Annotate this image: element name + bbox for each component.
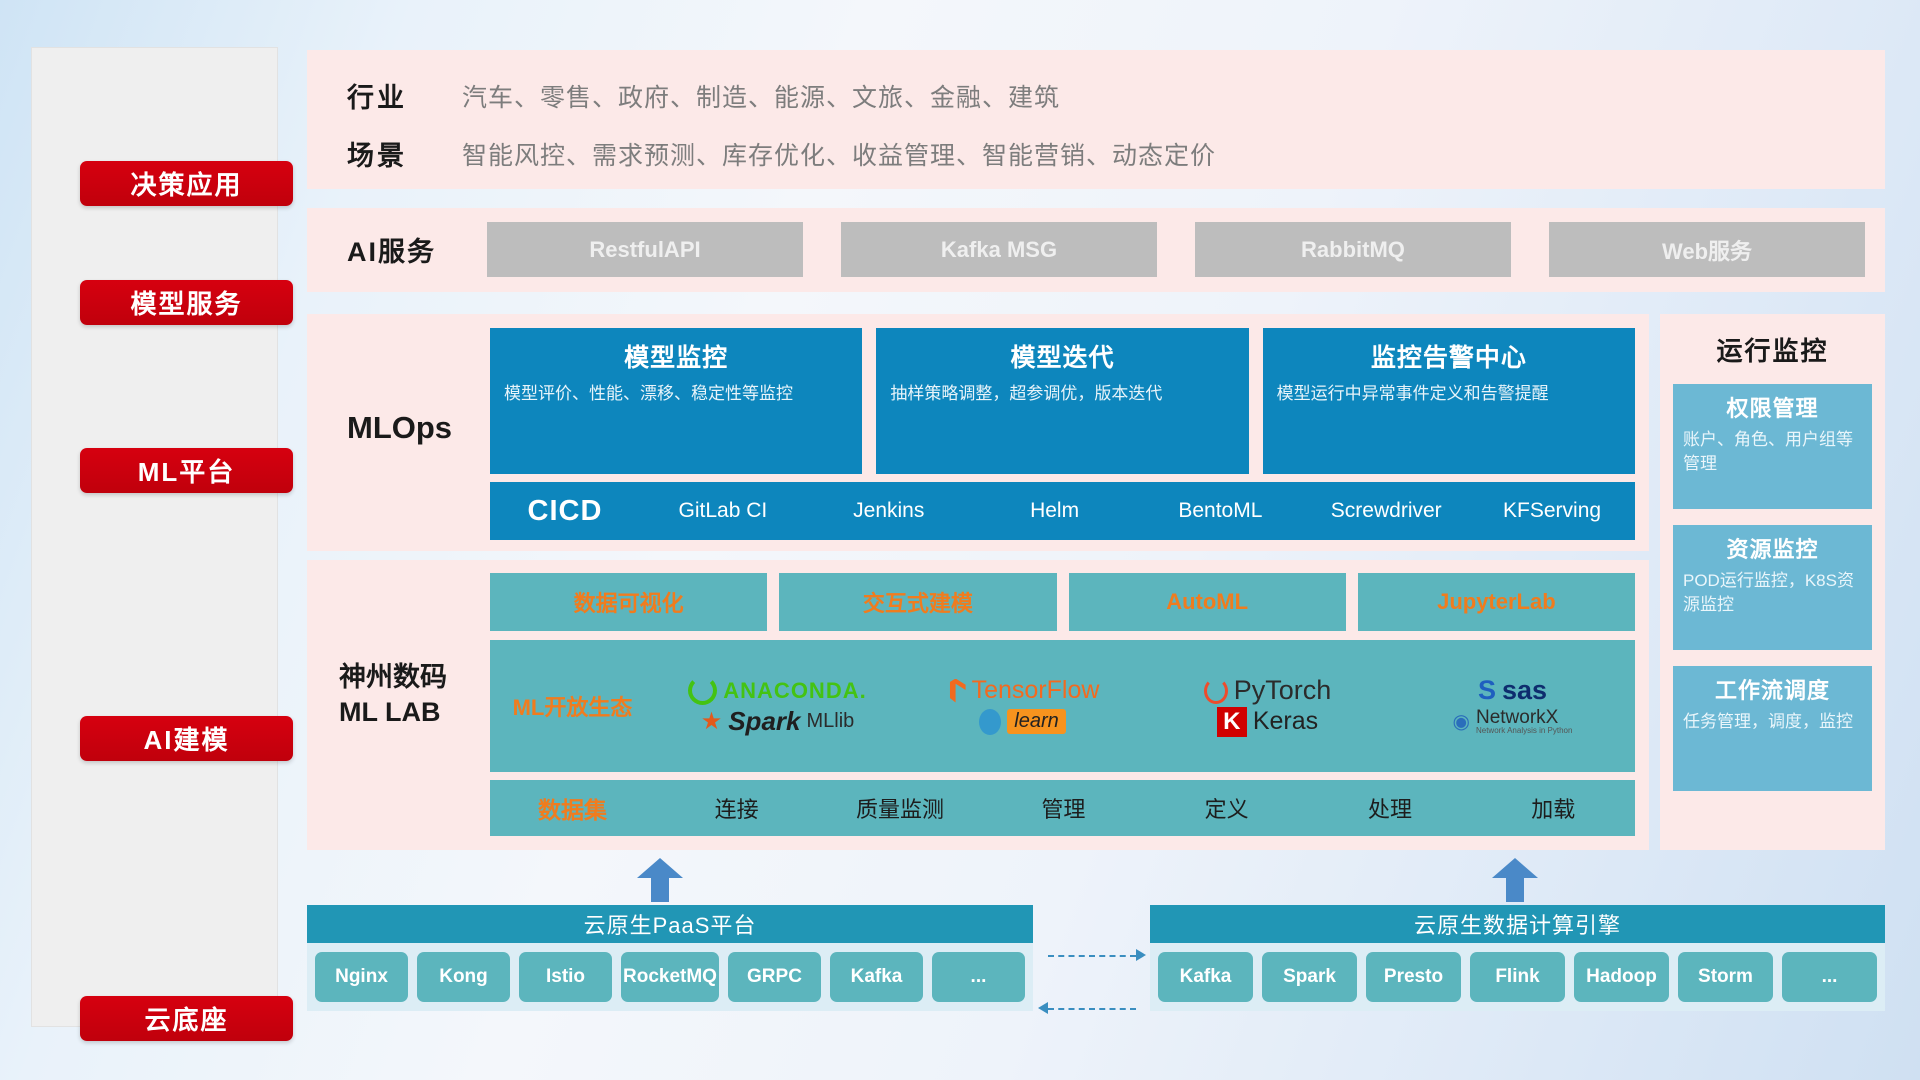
dashed-arrowhead-left-icon: [1038, 1002, 1048, 1014]
mlops-card-model-monitoring[interactable]: 模型监控 模型评价、性能、漂移、稳定性等监控: [490, 328, 862, 474]
mllab-label: 神州数码 ML LAB: [339, 660, 499, 730]
mllab-tool-automl[interactable]: AutoML: [1069, 573, 1346, 631]
dashed-arrowhead-right-icon: [1136, 949, 1146, 961]
layer-rail: 决策应用 模型服务 ML平台 AI建模 云底座: [31, 47, 278, 1027]
chip-rocketmq[interactable]: RocketMQ: [621, 952, 719, 1002]
tensorflow-mark-icon: [946, 679, 966, 703]
ai-service-item-kafka-msg[interactable]: Kafka MSG: [841, 222, 1157, 277]
mlops-card-desc: 模型运行中异常事件定义和告警提醒: [1277, 382, 1621, 407]
monitor-card-permission[interactable]: 权限管理 账户、角色、用户组等管理: [1673, 384, 1872, 509]
spark-label: Spark: [728, 706, 800, 737]
scene-label: 场景: [347, 134, 462, 173]
cicd-item-list: GitLab CI Jenkins Helm BentoML Screwdriv…: [640, 500, 1635, 522]
mlops-card-desc: 抽样策略调整，超参调优，版本迭代: [890, 382, 1234, 407]
dataset-item-manage[interactable]: 管理: [982, 792, 1145, 824]
mllab-tool-interactive-modeling[interactable]: 交互式建模: [779, 573, 1056, 631]
chip-kong[interactable]: Kong: [417, 952, 510, 1002]
anaconda-logo: ANACONDA.: [688, 676, 866, 705]
keras-mark-icon: K: [1217, 707, 1247, 737]
anaconda-label: ANACONDA.: [723, 678, 866, 704]
spark-star-icon: ★: [701, 707, 723, 736]
scene-row: 场景 智能风控、需求预测、库存优化、收益管理、智能营销、动态定价: [347, 134, 1216, 173]
monitor-card-title: 权限管理: [1683, 391, 1862, 423]
mlops-band: MLOps 模型监控 模型评价、性能、漂移、稳定性等监控 模型迭代 抽样策略调整…: [307, 314, 1649, 551]
chip-more-left[interactable]: ...: [932, 952, 1025, 1002]
mllab-tool-data-visualization[interactable]: 数据可视化: [490, 573, 767, 631]
dataset-row: 数据集 连接 质量监测 管理 定义 处理 加载: [490, 780, 1635, 836]
mllab-band: 神州数码 ML LAB 数据可视化 交互式建模 AutoML JupyterLa…: [307, 560, 1649, 850]
industry-values: 汽车、零售、政府、制造、能源、文旅、金融、建筑: [462, 78, 1060, 114]
cloud-compute-chip-list: Kafka Spark Presto Flink Hadoop Storm ..…: [1150, 943, 1885, 1011]
anaconda-ring-icon: [688, 676, 717, 705]
decision-app-band: 行业 汽车、零售、政府、制造、能源、文旅、金融、建筑 场景 智能风控、需求预测、…: [307, 50, 1885, 189]
monitor-card-title: 工作流调度: [1683, 673, 1862, 705]
arrow-up-compute-icon: [1492, 858, 1538, 902]
runtime-monitor-title: 运行监控: [1660, 331, 1885, 368]
tensorflow-logo: TensorFlow: [946, 676, 1100, 705]
cloud-paas-title: 云原生PaaS平台: [307, 905, 1033, 943]
chip-istio[interactable]: Istio: [519, 952, 612, 1002]
chip-kafka-right[interactable]: Kafka: [1158, 952, 1253, 1002]
cicd-item-screwdriver[interactable]: Screwdriver: [1303, 500, 1469, 522]
networkx-logo: ◉ NetworkX Network Analysis in Python: [1453, 708, 1573, 735]
monitor-card-desc: POD运行监控，K8S资源监控: [1683, 569, 1862, 617]
cicd-item-bentoml[interactable]: BentoML: [1137, 500, 1303, 522]
chip-presto[interactable]: Presto: [1366, 952, 1461, 1002]
scene-values: 智能风控、需求预测、库存优化、收益管理、智能营销、动态定价: [462, 136, 1216, 172]
chip-hadoop[interactable]: Hadoop: [1574, 952, 1669, 1002]
cicd-item-jenkins[interactable]: Jenkins: [806, 500, 972, 522]
architecture-diagram: 决策应用 模型服务 ML平台 AI建模 云底座 行业 汽车、零售、政府、制造、能…: [0, 0, 1920, 1080]
cloud-paas-chip-list: Nginx Kong Istio RocketMQ GRPC Kafka ...: [307, 943, 1033, 1011]
networkx-graph-icon: ◉: [1453, 709, 1470, 734]
ml-ecosystem-label: ML开放生态: [490, 690, 655, 722]
keras-label: Keras: [1253, 707, 1318, 736]
spark-mllib-logo: ★ Spark MLlib: [701, 706, 855, 737]
rail-item-decision-app[interactable]: 决策应用: [80, 161, 293, 206]
mlops-card-alert-center[interactable]: 监控告警中心 模型运行中异常事件定义和告警提醒: [1263, 328, 1635, 474]
dataset-item-quality-monitor[interactable]: 质量监测: [818, 792, 981, 824]
industry-label: 行业: [347, 76, 462, 115]
dashed-connector-right: [1048, 955, 1136, 957]
mlops-card-title: 模型迭代: [890, 338, 1234, 374]
cicd-title: CICD: [490, 495, 640, 528]
cicd-item-gitlab-ci[interactable]: GitLab CI: [640, 500, 806, 522]
scikit-dot-icon: [979, 709, 1001, 735]
monitor-card-title: 资源监控: [1683, 532, 1862, 564]
keras-logo: K Keras: [1217, 707, 1318, 737]
arrow-up-paas-icon: [637, 858, 683, 902]
pytorch-logo: PyTorch: [1204, 675, 1332, 706]
ml-ecosystem-row: ML开放生态 ANACONDA. TensorFlow PyTorch S sa…: [490, 640, 1635, 772]
dataset-label: 数据集: [490, 791, 655, 825]
sas-swirl-icon: S: [1478, 675, 1496, 706]
rail-item-ai-modeling[interactable]: AI建模: [80, 716, 293, 761]
ai-service-list: RestfulAPI Kafka MSG RabbitMQ Web服务: [487, 222, 1865, 277]
ai-service-item-rabbitmq[interactable]: RabbitMQ: [1195, 222, 1511, 277]
mllab-label-line1: 神州数码: [339, 660, 499, 695]
scikit-learn-label: learn: [1007, 709, 1065, 734]
dataset-item-connect[interactable]: 连接: [655, 792, 818, 824]
pytorch-label: PyTorch: [1234, 675, 1332, 706]
mlops-label: MLOps: [347, 410, 497, 446]
sas-logo: S sas: [1478, 675, 1547, 706]
mlops-card-title: 模型监控: [504, 338, 848, 374]
chip-flink[interactable]: Flink: [1470, 952, 1565, 1002]
chip-more-right[interactable]: ...: [1782, 952, 1877, 1002]
monitor-card-workflow[interactable]: 工作流调度 任务管理，调度，监控: [1673, 666, 1872, 791]
chip-spark[interactable]: Spark: [1262, 952, 1357, 1002]
dashed-connector-left: [1048, 1008, 1136, 1010]
cicd-item-kfserving[interactable]: KFServing: [1469, 500, 1635, 522]
ai-service-label: AI服务: [347, 230, 467, 269]
runtime-monitor-column: 运行监控 权限管理 账户、角色、用户组等管理 资源监控 POD运行监控，K8S资…: [1660, 314, 1885, 850]
ai-service-item-web[interactable]: Web服务: [1549, 222, 1865, 277]
dataset-item-load[interactable]: 加载: [1472, 792, 1635, 824]
cicd-row: CICD GitLab CI Jenkins Helm BentoML Scre…: [490, 482, 1635, 540]
mllib-label: MLlib: [806, 710, 854, 733]
mllab-tool-jupyterlab[interactable]: JupyterLab: [1358, 573, 1635, 631]
chip-grpc[interactable]: GRPC: [728, 952, 821, 1002]
dataset-item-define[interactable]: 定义: [1145, 792, 1308, 824]
cloud-compute-title: 云原生数据计算引擎: [1150, 905, 1885, 943]
monitor-card-resource[interactable]: 资源监控 POD运行监控，K8S资源监控: [1673, 525, 1872, 650]
chip-kafka[interactable]: Kafka: [830, 952, 923, 1002]
mlops-card-list: 模型监控 模型评价、性能、漂移、稳定性等监控 模型迭代 抽样策略调整，超参调优，…: [490, 328, 1635, 474]
mllab-tool-list: 数据可视化 交互式建模 AutoML JupyterLab: [490, 573, 1635, 631]
networkx-label-wrap: NetworkX Network Analysis in Python: [1476, 708, 1573, 735]
pytorch-flame-icon: [1204, 678, 1228, 704]
dataset-item-process[interactable]: 处理: [1308, 792, 1471, 824]
dataset-item-list: 连接 质量监测 管理 定义 处理 加载: [655, 792, 1635, 824]
cloud-paas-group: 云原生PaaS平台 Nginx Kong Istio RocketMQ GRPC…: [307, 905, 1033, 1011]
industry-row: 行业 汽车、零售、政府、制造、能源、文旅、金融、建筑: [347, 76, 1060, 115]
monitor-card-desc: 账户、角色、用户组等管理: [1683, 428, 1862, 476]
chip-storm[interactable]: Storm: [1678, 952, 1773, 1002]
mllab-label-line2: ML LAB: [339, 695, 499, 730]
monitor-card-desc: 任务管理，调度，监控: [1683, 710, 1862, 734]
networkx-tagline: Network Analysis in Python: [1476, 727, 1573, 735]
mlops-card-desc: 模型评价、性能、漂移、稳定性等监控: [504, 382, 848, 407]
ai-service-band: AI服务 RestfulAPI Kafka MSG RabbitMQ Web服务: [307, 208, 1885, 292]
rail-item-model-service[interactable]: 模型服务: [80, 280, 293, 325]
networkx-label: NetworkX: [1476, 707, 1558, 728]
ai-service-item-restfulapi[interactable]: RestfulAPI: [487, 222, 803, 277]
rail-item-ml-platform[interactable]: ML平台: [80, 448, 293, 493]
mlops-card-model-iteration[interactable]: 模型迭代 抽样策略调整，超参调优，版本迭代: [876, 328, 1248, 474]
rail-item-cloud-base[interactable]: 云底座: [80, 996, 293, 1041]
chip-nginx[interactable]: Nginx: [315, 952, 408, 1002]
scikit-learn-logo: learn: [979, 709, 1065, 735]
sas-label: sas: [1502, 675, 1547, 706]
ml-ecosystem-logo-grid: ANACONDA. TensorFlow PyTorch S sas ★ Spa…: [655, 675, 1635, 737]
tensorflow-label: TensorFlow: [972, 676, 1100, 705]
cloud-compute-group: 云原生数据计算引擎 Kafka Spark Presto Flink Hadoo…: [1150, 905, 1885, 1011]
mlops-card-title: 监控告警中心: [1277, 338, 1621, 374]
cicd-item-helm[interactable]: Helm: [972, 500, 1138, 522]
